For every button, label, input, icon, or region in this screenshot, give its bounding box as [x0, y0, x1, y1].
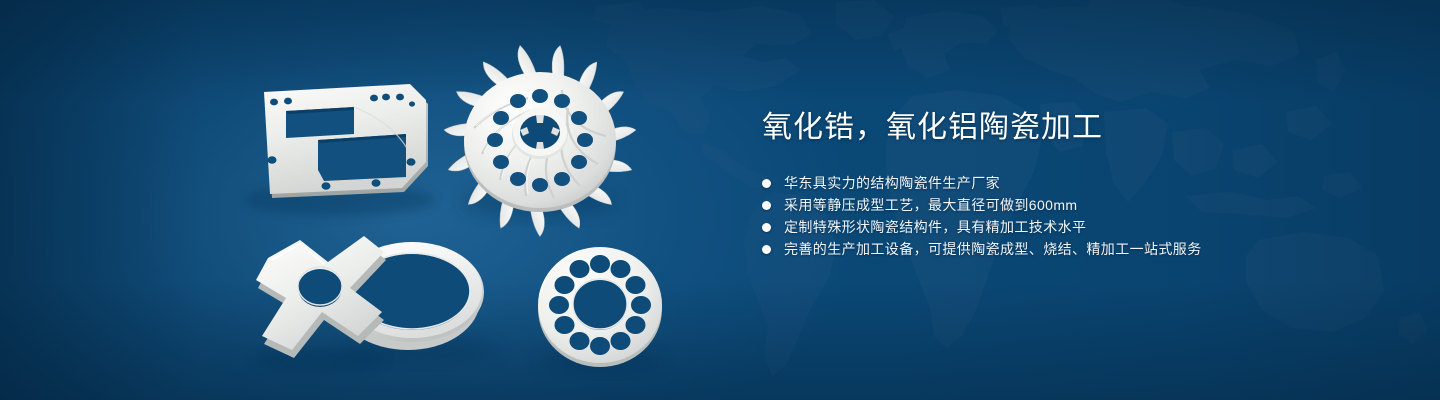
- bullet-dot-icon: [762, 201, 771, 210]
- list-item: 采用等静压成型工艺，最大直径可做到600mm: [762, 194, 1322, 216]
- bullet-dot-icon: [762, 245, 771, 254]
- ceramic-plate-part: [245, 84, 435, 216]
- bullet-dot-icon: [762, 223, 771, 232]
- list-item: 华东具实力的结构陶瓷件生产厂家: [762, 172, 1322, 194]
- banner-copy: 氧化锆，氧化铝陶瓷加工 华东具实力的结构陶瓷件生产厂家 采用等静压成型工艺，最大…: [762, 108, 1322, 260]
- ceramic-cross-part: [254, 236, 386, 372]
- list-item: 定制特殊形状陶瓷结构件，具有精加工技术水平: [762, 216, 1322, 238]
- list-item-label: 采用等静压成型工艺，最大直径可做到600mm: [784, 194, 1077, 216]
- feature-list: 华东具实力的结构陶瓷件生产厂家 采用等静压成型工艺，最大直径可做到600mm 定…: [762, 172, 1322, 260]
- list-item-label: 定制特殊形状陶瓷结构件，具有精加工技术水平: [784, 216, 1086, 238]
- hero-banner: 氧化锆，氧化铝陶瓷加工 华东具实力的结构陶瓷件生产厂家 采用等静压成型工艺，最大…: [0, 0, 1440, 400]
- ceramic-perforated-disc-part: [538, 247, 662, 373]
- page-title: 氧化锆，氧化铝陶瓷加工: [762, 108, 1322, 148]
- ceramic-products-image: [0, 0, 720, 400]
- list-item-label: 完善的生产加工设备，可提供陶瓷成型、烧结、精加工一站式服务: [784, 238, 1202, 260]
- list-item-label: 华东具实力的结构陶瓷件生产厂家: [784, 172, 1000, 194]
- list-item: 完善的生产加工设备，可提供陶瓷成型、烧结、精加工一站式服务: [762, 238, 1322, 260]
- ceramic-impeller-part: [443, 44, 636, 237]
- bullet-dot-icon: [762, 179, 771, 188]
